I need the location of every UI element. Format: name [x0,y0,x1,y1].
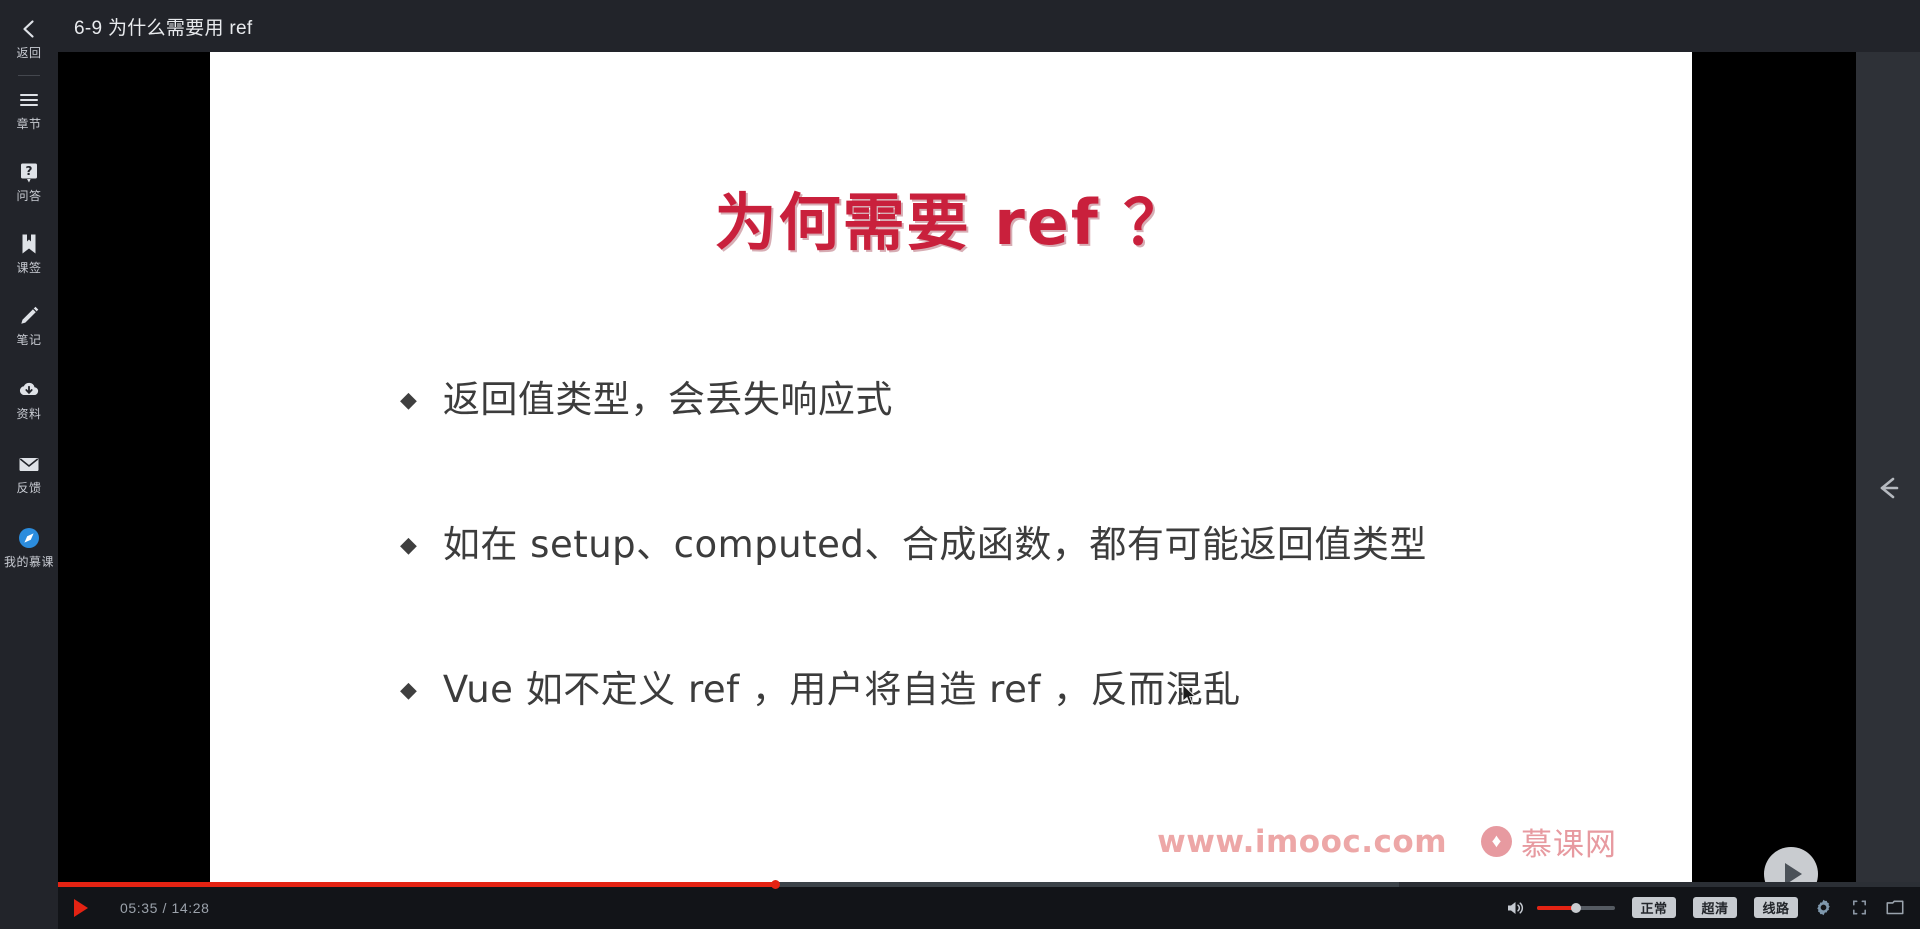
playback-speed-button[interactable]: 正常 [1632,897,1676,918]
pencil-icon [16,303,42,329]
bullet-text: Vue 如不定义 ref ，用户将自造 ref ，反而混乱 [443,664,1241,716]
route-button[interactable]: 线路 [1754,897,1798,918]
volume-slider[interactable] [1537,906,1615,910]
watermark-brand: ♦ 慕课网 [1481,819,1617,864]
quality-button[interactable]: 超清 [1693,897,1737,918]
diamond-bullet-icon: ◆ [400,519,417,571]
arrow-left-icon [16,16,42,42]
sidebar-item-notes[interactable]: 笔记 [0,295,58,353]
bookmark-icon [16,231,42,257]
watermark: www.imooc.com ♦ 慕课网 [1157,819,1617,864]
sidebar-item-label: 课签 [16,262,41,275]
mouse-cursor [1182,684,1198,713]
diamond-bullet-icon: ◆ [400,664,417,716]
sidebar-item-label: 反馈 [16,482,41,495]
control-left-group: 05:35 / 14:28 [58,886,210,929]
flame-icon: ♦ [1481,826,1512,857]
question-mark-icon: ? [16,159,42,185]
volume-handle[interactable] [1571,903,1581,913]
sidebar-item-my-imooc[interactable]: 我的慕课 [0,517,58,575]
volume-icon[interactable] [1505,898,1525,918]
arrow-left-icon [1871,471,1905,510]
sidebar-item-feedback[interactable]: 反馈 [0,443,58,501]
bullet-text: 返回值类型，会丢失响应式 [443,374,893,426]
play-button[interactable] [70,897,92,919]
sidebar-item-bookmark[interactable]: 课签 [0,223,58,281]
player-control-bar: 05:35 / 14:28 正常 超清 线路 [58,886,1920,929]
slide-canvas: 为何需要 ref ？ ◆ 返回值类型，会丢失响应式 ◆ 如在 setup、com… [210,52,1692,892]
video-stage[interactable]: 为何需要 ref ？ ◆ 返回值类型，会丢失响应式 ◆ 如在 setup、com… [58,52,1856,929]
slide-title: 为何需要 ref ？ [210,172,1692,262]
list-item: ◆ 如在 setup、computed、合成函数，都有可能返回值类型 [400,519,1652,571]
left-sidebar: 返回 章节 ? 问答 课签 笔记 [0,0,58,929]
sidebar-item-label: 返回 [16,47,41,60]
sidebar-item-label: 问答 [16,190,41,203]
settings-button[interactable] [1812,897,1834,919]
hamburger-icon [16,87,42,113]
volume-control [1505,898,1615,918]
sidebar-item-materials[interactable]: 资料 [0,369,58,427]
sidebar-item-back[interactable]: 返回 [0,8,58,66]
download-cloud-icon [16,377,42,403]
collapse-panel-button[interactable] [1856,52,1920,929]
watermark-url: www.imooc.com [1157,824,1447,860]
time-display: 05:35 / 14:28 [120,900,210,916]
sidebar-item-qa[interactable]: ? 问答 [0,151,58,209]
diamond-bullet-icon: ◆ [400,374,417,426]
list-item: ◆ Vue 如不定义 ref ，用户将自造 ref ，反而混乱 [400,664,1652,716]
list-item: ◆ 返回值类型，会丢失响应式 [400,374,1652,426]
compass-icon [16,525,42,551]
slide-bullet-list: ◆ 返回值类型，会丢失响应式 ◆ 如在 setup、computed、合成函数，… [400,374,1652,809]
svg-text:?: ? [26,164,33,178]
page-title: 6-9 为什么需要用 ref [74,13,252,40]
control-right-group: 正常 超清 线路 [1505,886,1906,929]
fullscreen-button[interactable] [1848,897,1870,919]
sidebar-item-label: 我的慕课 [4,556,54,569]
video-player-page: 返回 章节 ? 问答 课签 笔记 [0,0,1920,929]
picture-in-picture-button[interactable] [1884,897,1906,919]
sidebar-item-label: 资料 [16,408,41,421]
sidebar-item-label: 笔记 [16,334,41,347]
envelope-icon [16,451,42,477]
sidebar-item-label: 章节 [16,118,41,131]
progress-handle[interactable] [771,880,780,889]
bullet-text: 如在 setup、computed、合成函数，都有可能返回值类型 [443,519,1427,571]
sidebar-item-chapters[interactable]: 章节 [0,79,58,137]
watermark-brand-name: 慕课网 [1521,819,1617,864]
top-title-bar: 6-9 为什么需要用 ref [58,0,1920,52]
play-triangle-icon [74,899,88,917]
sidebar-divider [18,75,40,76]
